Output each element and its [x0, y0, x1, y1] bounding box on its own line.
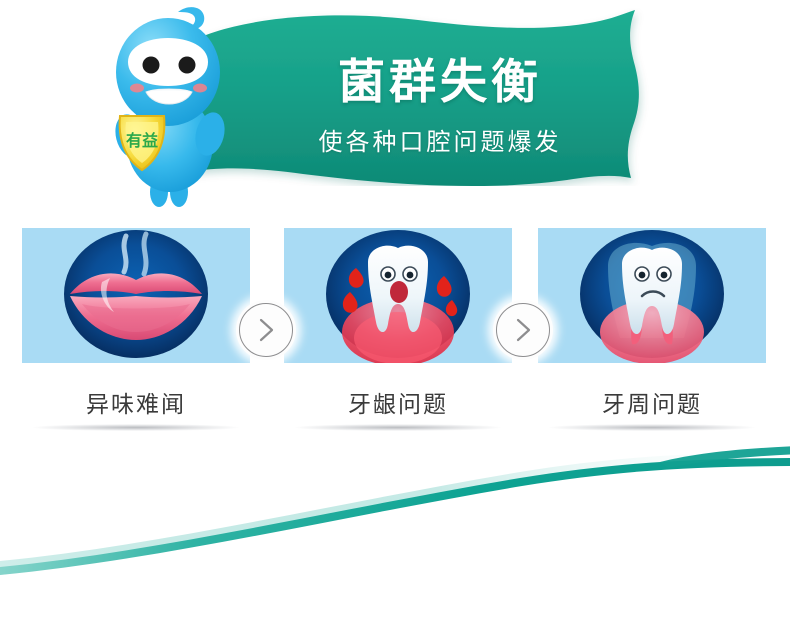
teal-swoosh-divider [0, 430, 790, 629]
chevron-right-icon [239, 303, 293, 357]
card-periodontal-label: 牙周问题 [538, 385, 766, 419]
card-gum-label: 牙龈问题 [284, 385, 512, 419]
chevron-right-icon [496, 303, 550, 357]
card-odor-image [22, 228, 250, 363]
card-odor-label: 异味难闻 [22, 385, 250, 419]
card-gum-image [284, 228, 512, 363]
card-gum[interactable]: 牙龈问题 [284, 228, 512, 419]
problem-cards-row: 异味难闻 [0, 228, 790, 428]
svg-text:有益: 有益 [126, 131, 158, 150]
ribbon-banner [183, 8, 653, 186]
card-periodontal-image [538, 228, 766, 363]
connector-arrow-2[interactable] [493, 300, 553, 360]
mascot-figure: 有益 [104, 4, 232, 209]
hero-section: 菌群失衡 使各种口腔问题爆发 [0, 0, 790, 215]
connector-arrow-1[interactable] [236, 300, 296, 360]
card-periodontal[interactable]: 牙周问题 [538, 228, 766, 419]
card-odor[interactable]: 异味难闻 [22, 228, 250, 419]
product-infographic-page: 菌群失衡 使各种口腔问题爆发 [0, 0, 790, 629]
